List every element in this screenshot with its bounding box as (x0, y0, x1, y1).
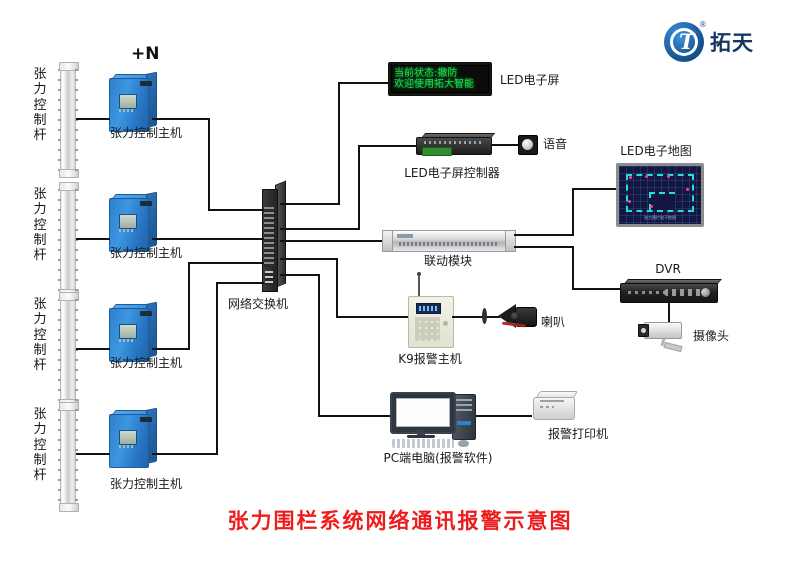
network-switch-label: 网络交换机 (228, 298, 288, 312)
wire-dvr-h (572, 288, 620, 290)
wire-linkage-dvr-join (548, 246, 574, 248)
mouse-icon (458, 440, 469, 447)
diagram-title: 张力围栏系统网络通讯报警示意图 (0, 505, 800, 535)
wire-host1-trunk (152, 118, 210, 120)
wire-trunk1-down (208, 118, 210, 211)
pc-label: PC端电脑(报警软件) (384, 452, 493, 466)
wire-pole1-host1 (76, 118, 110, 120)
wire-pole4-host4 (76, 453, 110, 455)
wire-switch-in-4 (238, 282, 264, 284)
brand-mark-icon: T ® (664, 22, 704, 62)
pc-workstation (390, 392, 482, 448)
wire-ledctl-voice (492, 144, 520, 146)
wire-switch-in-3 (238, 262, 264, 264)
tension-host-label-3: 张力控制主机 (110, 357, 182, 371)
wire-switch-pc-h1 (280, 274, 320, 276)
wire-host2-switch (152, 238, 238, 240)
registered-icon: ® (699, 20, 707, 29)
antenna-icon (418, 275, 420, 298)
wire-switch-linkage (280, 240, 382, 242)
camera-label: 摄像头 (693, 330, 729, 344)
wire-switch-ledscreen-h1 (280, 203, 340, 205)
wire-linkage-right-1 (514, 234, 550, 236)
speaker-label: 喇叭 (541, 316, 565, 330)
wire-pc-printer (476, 415, 532, 417)
tension-host-4 (109, 410, 155, 466)
pole-label-3: 张力控制杆 (31, 297, 49, 374)
wire-switch-ledctl-h1 (280, 228, 360, 230)
brand-name: 拓天 (710, 27, 754, 57)
tension-host-label-4: 张力控制主机 (110, 478, 182, 492)
led-screen-controller (416, 131, 490, 155)
wire-linkage-map-join (548, 234, 574, 236)
camera-device (638, 320, 690, 354)
wire-linkage-dvr-v (572, 246, 574, 290)
pole-label-2: 张力控制杆 (31, 187, 49, 264)
voice-label: 语音 (543, 138, 567, 152)
wire-trunk3-switch (188, 262, 238, 264)
wire-switch-in-2 (238, 238, 264, 240)
tension-host-label-2: 张力控制主机 (110, 247, 182, 261)
wire-switch-ledscreen-h2 (338, 82, 388, 84)
led-display-screen: 当前状态:撤防 欢迎使用拓大智能 (388, 62, 492, 96)
led-electronic-map: 张力围栏电子地图 (616, 163, 704, 227)
tension-host-label-1: 张力控制主机 (110, 127, 182, 141)
wire-trunk4-up (216, 282, 218, 455)
tension-pole-4 (60, 404, 76, 510)
wire-switch-k9-h2 (336, 316, 410, 318)
k9-alarm-host (408, 296, 454, 348)
horn-speaker (498, 303, 542, 329)
wire-switch-ledscreen-v (338, 82, 340, 205)
pc-monitor (390, 392, 456, 434)
tension-host-2 (109, 194, 155, 250)
voice-module (518, 135, 538, 155)
wire-trunk3-up (188, 262, 190, 350)
tension-host-3 (109, 304, 155, 360)
wire-host4-trunk (152, 453, 218, 455)
wire-pole2-host2 (76, 238, 110, 240)
diagram-canvas: T ® 拓天 +N 张力控制杆 张力控制主机 张力控制杆 张力控制主机 张力控制… (0, 0, 800, 579)
printer-label: 报警打印机 (548, 428, 608, 442)
wire-switch-ledctl-v (358, 145, 360, 230)
tension-pole-3 (60, 294, 76, 406)
wire-switch-pc-h2 (318, 415, 390, 417)
linkage-module (382, 230, 516, 252)
led-map-caption: 张力围栏电子地图 (619, 215, 701, 221)
led-controller-label: LED电子屏控制器 (404, 167, 500, 181)
wire-map-h (572, 188, 616, 190)
wire-k9-speaker (452, 316, 500, 318)
keyboard-icon (392, 439, 454, 448)
wire-trunk4-switch (216, 282, 238, 284)
wire-switch-ledctl-h2 (358, 145, 418, 147)
brand-mark-letter: T (679, 29, 695, 54)
alarm-printer (533, 390, 575, 420)
wire-pole3-host3 (76, 348, 110, 350)
wire-switch-pc-v (318, 274, 320, 417)
dvr-label: DVR (655, 263, 681, 277)
linkage-module-label: 联动模块 (424, 255, 472, 269)
wire-linkage-map-v (572, 188, 574, 236)
wire-switch-in-1 (238, 209, 264, 211)
wire-switch-k9-h1 (280, 258, 338, 260)
led-screen-line-2: 欢迎使用拓大智能 (394, 79, 486, 90)
led-screen-label: LED电子屏 (500, 74, 560, 88)
pole-label-1: 张力控制杆 (31, 67, 49, 144)
pole-label-4: 张力控制杆 (31, 407, 49, 484)
k9-alarm-label: K9报警主机 (398, 353, 462, 367)
tension-pole-1 (60, 64, 76, 176)
wire-linkage-right-2 (514, 246, 550, 248)
tension-host-1 (109, 74, 155, 130)
wire-host3-trunk (152, 348, 190, 350)
tension-pole-2 (60, 184, 76, 296)
wire-switch-k9-v (336, 258, 338, 318)
wire-trunk1-switch (208, 209, 238, 211)
led-map-label: LED电子地图 (620, 145, 692, 159)
brand-logo: T ® 拓天 (664, 22, 754, 62)
led-screen-line-1: 当前状态:撤防 (394, 68, 486, 79)
plus-n-label: +N (131, 44, 159, 64)
